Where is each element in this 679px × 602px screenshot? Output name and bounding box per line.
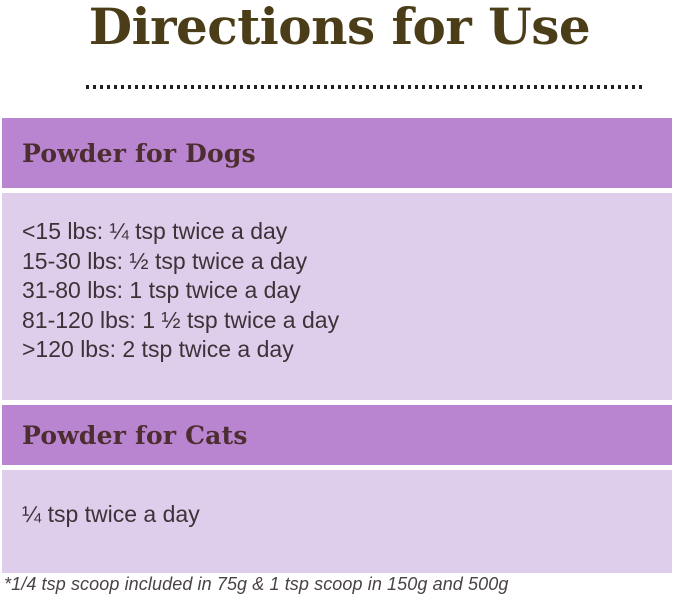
section-header-cats: Powder for Cats bbox=[2, 405, 672, 465]
dosage-list-cats: ¼ tsp twice a day bbox=[2, 470, 672, 573]
scoop-footnote: *1/4 tsp scoop included in 75g & 1 tsp s… bbox=[4, 574, 508, 595]
dotted-divider bbox=[86, 85, 646, 89]
dosage-line: 31-80 lbs: 1 tsp twice a day bbox=[22, 276, 652, 306]
section-header-dogs: Powder for Dogs bbox=[2, 118, 672, 188]
dosage-line: 15-30 lbs: ½ tsp twice a day bbox=[22, 247, 652, 277]
section-header-dogs-label: Powder for Dogs bbox=[22, 141, 256, 166]
dosage-line: ¼ tsp twice a day bbox=[22, 500, 652, 530]
dosage-line: <15 lbs: ¼ tsp twice a day bbox=[22, 217, 652, 247]
dosage-panel: Powder for Dogs <15 lbs: ¼ tsp twice a d… bbox=[2, 118, 672, 573]
dosage-line: 81-120 lbs: 1 ½ tsp twice a day bbox=[22, 306, 652, 336]
dosage-list-dogs: <15 lbs: ¼ tsp twice a day 15-30 lbs: ½ … bbox=[2, 193, 672, 400]
directions-for-use-panel: Directions for Use Powder for Dogs <15 l… bbox=[0, 0, 679, 602]
page-title: Directions for Use bbox=[0, 0, 679, 58]
section-header-cats-label: Powder for Cats bbox=[22, 423, 248, 448]
dosage-line: >120 lbs: 2 tsp twice a day bbox=[22, 335, 652, 365]
